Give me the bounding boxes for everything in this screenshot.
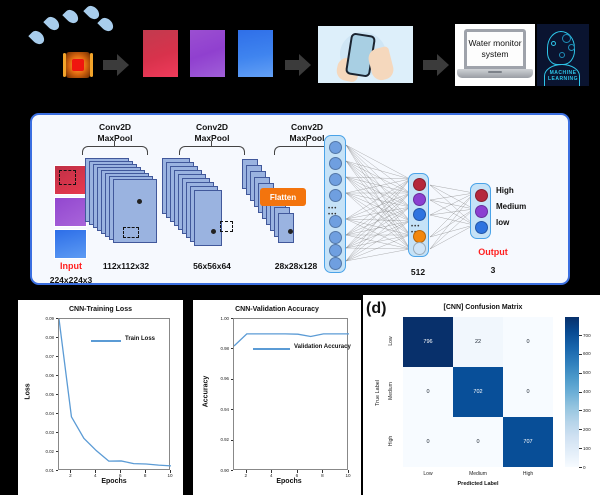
swatch-purple — [190, 30, 225, 77]
validation-accuracy-plot-area — [233, 318, 348, 470]
cm-xticklabel: Medium — [453, 471, 503, 477]
ytick-mark — [56, 318, 59, 319]
cm-xticklabel: High — [503, 471, 553, 477]
output-label: Output — [464, 247, 522, 257]
ytick: 0.02 — [32, 449, 54, 454]
colorbar-tick-mark — [579, 410, 582, 411]
conv3-sample-dot — [288, 229, 293, 234]
training-loss-chart: CNN-Training Loss 0.010.020.030.040.050.… — [18, 300, 183, 495]
right-arrow-icon — [103, 54, 129, 76]
ytick: 0.90 — [207, 468, 229, 473]
laptop-icon: Water monitor system — [455, 24, 535, 86]
colorbar-tick-mark — [579, 373, 582, 374]
output-layer-column — [470, 183, 491, 239]
ytick-mark — [56, 432, 59, 433]
cm-yticklabel: High — [388, 423, 394, 459]
colorbar-tick: 100 — [583, 446, 591, 451]
input-channel-blue — [54, 229, 87, 259]
colorbar-tick: 0 — [583, 465, 586, 470]
conv-block-2-dims: 56x56x64 — [172, 261, 252, 271]
dense-512-label: 512 — [389, 267, 447, 277]
xtick-mark — [95, 470, 96, 473]
validation-accuracy-title: CNN-Validation Accuracy — [193, 306, 361, 313]
confusion-matrix-cell: 0 — [403, 367, 453, 417]
training-loss-legend-text: Train Loss — [125, 336, 155, 342]
colorbar-tick: 500 — [583, 370, 591, 375]
cm-xticklabel: Low — [403, 471, 453, 477]
training-loss-legend-swatch — [91, 340, 121, 342]
colorbar-tick-mark — [579, 429, 582, 430]
laptop-text-line1: Water monitor — [468, 38, 521, 48]
input-dims: 224x224x3 — [32, 275, 110, 285]
conv2-sample-dot — [211, 229, 216, 234]
ytick: 0.04 — [32, 411, 54, 416]
confusion-matrix-cell: 22 — [453, 317, 503, 367]
processing-pipeline: Water monitor system MACHINE LEARNING — [0, 0, 600, 108]
colorbar-tick-mark — [579, 354, 582, 355]
ytick: 0.96 — [207, 376, 229, 381]
confusion-matrix-cell: 702 — [453, 367, 503, 417]
xtick-mark — [322, 470, 323, 473]
validation-accuracy-legend-swatch — [253, 348, 290, 350]
water-sensor-icon — [63, 52, 93, 78]
ytick-mark — [56, 451, 59, 452]
ytick-mark — [56, 394, 59, 395]
confusion-matrix-grid: 7962200702000707 — [403, 317, 553, 467]
ytick: 0.08 — [32, 335, 54, 340]
confusion-matrix-cell: 796 — [403, 317, 453, 367]
confusion-matrix-ylabel: True Label — [375, 373, 381, 413]
ytick-mark — [56, 375, 59, 376]
ytick-mark — [56, 337, 59, 338]
xtick-mark — [70, 470, 71, 473]
ytick: 0.05 — [32, 392, 54, 397]
laptop-text-line2: system — [482, 49, 509, 59]
ytick-mark — [231, 318, 234, 319]
ytick-mark — [56, 356, 59, 357]
confusion-matrix-cell: 707 — [503, 417, 553, 467]
confusion-matrix-chart: (d) [CNN] Confusion Matrix 7962200702000… — [363, 295, 600, 495]
colorbar-tick-mark — [579, 335, 582, 336]
ytick-mark — [56, 413, 59, 414]
colorbar-tick: 400 — [583, 389, 591, 394]
confusion-matrix-cell: 0 — [453, 417, 503, 467]
brace-1 — [82, 146, 148, 155]
conv1-sample-dot — [137, 199, 142, 204]
conv-block-1-dims: 112x112x32 — [86, 261, 166, 271]
ytick-mark — [231, 348, 234, 349]
ytick-mark — [231, 470, 234, 471]
ytick-mark — [231, 409, 234, 410]
cm-yticklabel: Medium — [388, 373, 394, 409]
colorbar-tick-mark — [579, 392, 582, 393]
ytick: 0.94 — [207, 407, 229, 412]
swatch-blue — [238, 30, 273, 77]
cnn-architecture-panel: Conv2DMaxPool Conv2DMaxPool Conv2DMaxPoo… — [30, 113, 570, 285]
xtick-mark — [170, 470, 171, 473]
colorbar-tick: 600 — [583, 351, 591, 356]
xtick-mark — [145, 470, 146, 473]
dense-512-column: ••• ••• — [408, 173, 429, 257]
colorbar-tick: 200 — [583, 427, 591, 432]
validation-accuracy-legend-text: Validation Accuracy — [294, 344, 351, 350]
training-loss-ylabel: Loss — [25, 372, 32, 412]
swatch-red — [143, 30, 178, 77]
validation-accuracy-chart: CNN-Validation Accuracy 0.900.920.940.96… — [193, 300, 361, 495]
training-loss-title: CNN-Training Loss — [18, 306, 183, 313]
xtick-mark — [120, 470, 121, 473]
ytick: 0.07 — [32, 354, 54, 359]
validation-accuracy-ylabel: Accuracy — [203, 367, 210, 417]
right-arrow-icon-2 — [285, 54, 311, 76]
ytick: 0.92 — [207, 437, 229, 442]
ai-head-icon: MACHINE LEARNING — [537, 24, 589, 86]
confusion-matrix-cell: 0 — [503, 317, 553, 367]
ytick-mark — [231, 379, 234, 380]
confusion-matrix-xlabel: Predicted Label — [403, 481, 553, 487]
class-label-high: High — [496, 186, 514, 195]
validation-accuracy-xlabel: Epochs — [226, 478, 352, 485]
confusion-matrix-title: [CNN] Confusion Matrix — [388, 304, 578, 311]
colorbar-tick: 700 — [583, 333, 591, 338]
ytick: 0.03 — [32, 430, 54, 435]
ytick-mark — [231, 440, 234, 441]
xtick-mark — [271, 470, 272, 473]
xtick-mark — [297, 470, 298, 473]
flatten-button[interactable]: Flatten — [260, 188, 306, 206]
ytick: 0.09 — [32, 316, 54, 321]
receptive-field-box-1 — [59, 170, 76, 185]
brace-2 — [179, 146, 245, 155]
cm-yticklabel: Low — [388, 323, 394, 359]
hand-holding-phone-icon — [318, 26, 413, 83]
ytick: 0.98 — [207, 346, 229, 351]
confusion-matrix-cell: 0 — [403, 417, 453, 467]
ml-label: MACHINE LEARNING — [537, 70, 589, 82]
receptive-field-box-2 — [123, 227, 139, 238]
right-arrow-icon-3 — [423, 54, 449, 76]
receptive-field-box-3 — [220, 221, 233, 232]
ytick: 0.01 — [32, 468, 54, 473]
class-label-low: low — [496, 218, 509, 227]
output-count: 3 — [464, 265, 522, 275]
training-loss-xlabel: Epochs — [51, 478, 177, 485]
colorbar-tick: 300 — [583, 408, 591, 413]
confusion-matrix-colorbar — [565, 317, 579, 467]
colorbar-tick-mark — [579, 467, 582, 468]
ytick-mark — [56, 470, 59, 471]
ytick: 0.06 — [32, 373, 54, 378]
ytick: 1.00 — [207, 316, 229, 321]
colorbar-tick-mark — [579, 448, 582, 449]
confusion-matrix-cell: 0 — [503, 367, 553, 417]
panel-letter: (d) — [366, 300, 386, 318]
input-channel-purple — [54, 197, 87, 227]
class-label-medium: Medium — [496, 202, 526, 211]
xtick-mark — [348, 470, 349, 473]
xtick-mark — [246, 470, 247, 473]
